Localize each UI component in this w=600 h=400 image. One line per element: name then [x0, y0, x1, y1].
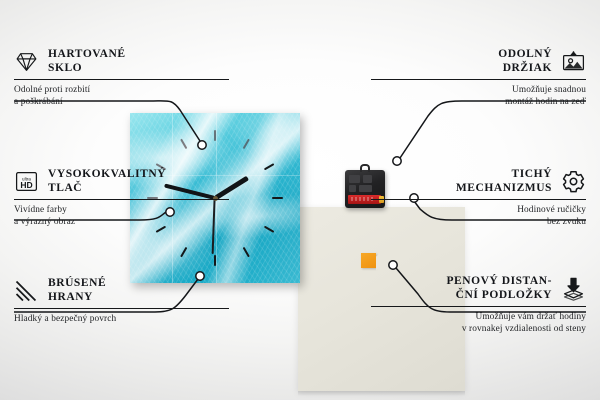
feature-title: ODOLNÝ DRŽIAK: [498, 48, 552, 75]
feature-foam-spacers[interactable]: PENOVÝ DISTAN- ČNÍ PODLOŽKY Umožňuje vám…: [371, 275, 586, 335]
feature-high-quality-print[interactable]: ultra HD VYSOKOKVALITNÝ TLAČ Vivídne far…: [14, 168, 229, 228]
feature-desc-line: bez zvuku: [371, 216, 586, 228]
picture-hanger-icon: [561, 49, 586, 74]
hour-marker: [180, 139, 187, 150]
hour-marker: [272, 197, 283, 199]
feature-tempered-glass[interactable]: HARTOVANÉ SKLO Odolné proti rozbití a po…: [14, 48, 229, 108]
foam-stack-icon: [561, 276, 586, 301]
feature-desc-line: Umožňuje snadnou: [371, 84, 586, 96]
feature-header: ultra HD VYSOKOKVALITNÝ TLAČ: [14, 168, 229, 195]
feature-desc-line: Umožňuje vám držať hodiny: [371, 311, 586, 323]
foam-spacer-pad: [361, 253, 376, 268]
gear-icon: [561, 169, 586, 194]
feature-divider: [371, 306, 586, 307]
hour-marker: [180, 247, 187, 258]
feature-divider: [14, 308, 229, 309]
svg-text:HD: HD: [20, 180, 32, 190]
feature-desc-line: a poškrábání: [14, 96, 229, 108]
feature-desc-line: a výrazný obraz: [14, 216, 229, 228]
feature-desc-line: Hladký a bezpečný povrch: [14, 313, 229, 325]
feature-silent-mechanism[interactable]: TICHÝ MECHANIZMUS Hodinové ručičky bez z…: [371, 168, 586, 228]
feature-desc-line: montáž hodin na zeď: [371, 96, 586, 108]
hour-marker: [214, 130, 216, 141]
hour-marker: [243, 247, 250, 258]
polished-edges-icon: [14, 278, 39, 303]
feature-header: HARTOVANÉ SKLO: [14, 48, 229, 75]
hour-marker: [214, 255, 216, 266]
feature-divider: [371, 199, 586, 200]
connector-line-4: [400, 101, 586, 158]
feature-header: ODOLNÝ DRŽIAK: [371, 48, 586, 75]
mechanism-detail: [349, 185, 356, 192]
diamond-icon: [14, 49, 39, 74]
feature-polished-edges[interactable]: BRÚSENÉ HRANY Hladký a bezpečný povrch: [14, 277, 229, 325]
feature-desc-line: Odolné proti rozbití: [14, 84, 229, 96]
feature-desc-line: Vivídne farby: [14, 204, 229, 216]
feature-title: BRÚSENÉ HRANY: [48, 277, 106, 304]
mechanism-shaft: [360, 164, 370, 172]
feature-durable-hanger[interactable]: ODOLNÝ DRŽIAK Umožňuje snadnou montáž ho…: [371, 48, 586, 108]
feature-desc-line: v rovnakej vzdialenosti od steny: [371, 323, 586, 335]
ultra-hd-icon: ultra HD: [14, 169, 39, 194]
hour-marker: [243, 139, 250, 150]
feature-title: HARTOVANÉ SKLO: [48, 48, 126, 75]
feature-title: PENOVÝ DISTAN- ČNÍ PODLOŽKY: [446, 275, 552, 302]
mechanism-detail: [349, 175, 360, 183]
feature-divider: [14, 199, 229, 200]
hour-marker: [264, 163, 275, 170]
feature-desc-line: Hodinové ručičky: [371, 204, 586, 216]
feature-header: TICHÝ MECHANIZMUS: [371, 168, 586, 195]
feature-title: TICHÝ MECHANIZMUS: [456, 168, 552, 195]
feature-divider: [371, 79, 586, 80]
feature-header: BRÚSENÉ HRANY: [14, 277, 229, 304]
hour-marker: [264, 226, 275, 233]
feature-divider: [14, 79, 229, 80]
feature-title: VYSOKOKVALITNÝ TLAČ: [48, 168, 166, 195]
feature-header: PENOVÝ DISTAN- ČNÍ PODLOŽKY: [371, 275, 586, 302]
